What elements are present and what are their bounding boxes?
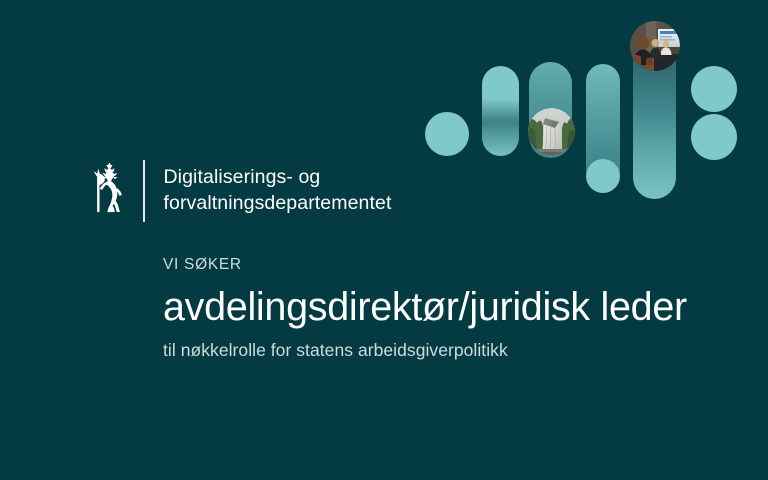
recruitment-poster: Digitaliserings- og forvaltningsdepartem… xyxy=(0,0,768,480)
decor-dot-solid-4 xyxy=(691,114,737,160)
decor-dot-solid-3 xyxy=(691,66,737,112)
decorative-dot-bar-graphic xyxy=(425,0,768,215)
decor-pill-gradient-1 xyxy=(482,66,519,156)
decor-dot-solid-1 xyxy=(425,112,469,156)
subtitle: til nøkkelrolle for statens arbeidsgiver… xyxy=(163,340,723,362)
page-title: avdelingsdirektør/juridisk leder xyxy=(163,284,723,331)
decor-dot-solid-2 xyxy=(586,159,620,193)
eyebrow-label: VI SØKER xyxy=(163,256,723,275)
logo-divider xyxy=(143,160,145,222)
headline-block: VI SØKER avdelingsdirektør/juridisk lede… xyxy=(163,256,723,362)
department-logo-lockup: Digitaliserings- og forvaltningsdepartem… xyxy=(88,160,391,222)
norwegian-coat-of-arms-icon xyxy=(88,162,130,220)
photo-meeting-people xyxy=(630,21,680,71)
photo-building xyxy=(528,108,575,155)
department-name: Digitaliserings- og forvaltningsdepartem… xyxy=(164,165,392,217)
